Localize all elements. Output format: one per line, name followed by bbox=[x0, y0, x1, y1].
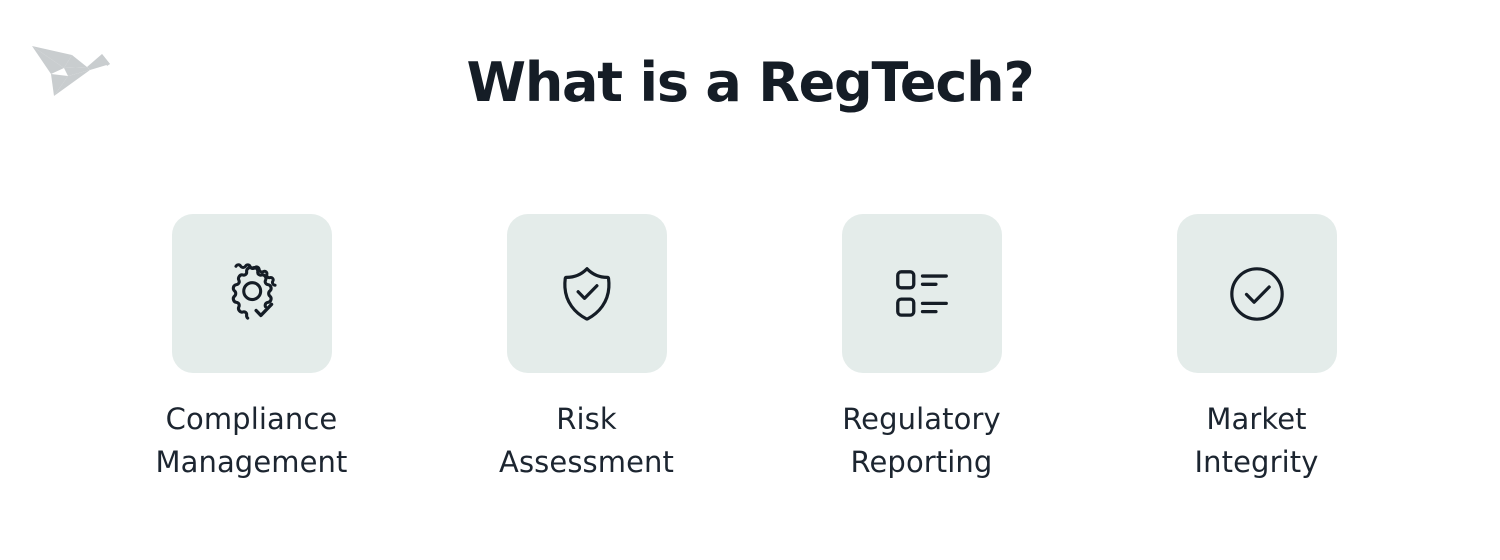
page-title: What is a RegTech? bbox=[466, 52, 1033, 114]
feature-item-regulatory-reporting[interactable]: Regulatory Reporting bbox=[754, 214, 1089, 484]
feature-label-regulatory-reporting: Regulatory Reporting bbox=[842, 398, 1001, 484]
regtech-infographic-page: { "page": { "background_color": "#ffffff… bbox=[0, 0, 1500, 560]
circle-check-icon bbox=[1224, 261, 1290, 327]
feature-list: Compliance Management Risk Assessment bbox=[84, 214, 1424, 484]
checklist-icon bbox=[889, 261, 955, 327]
feature-label-risk-assessment: Risk Assessment bbox=[499, 398, 674, 484]
shield-check-icon bbox=[554, 261, 620, 327]
feature-label-compliance-management: Compliance Management bbox=[155, 398, 347, 484]
gear-check-icon bbox=[219, 261, 285, 327]
feature-item-compliance-management[interactable]: Compliance Management bbox=[84, 214, 419, 484]
icon-card-compliance-management bbox=[172, 214, 332, 373]
page-title-container: What is a RegTech? bbox=[0, 52, 1500, 114]
icon-card-regulatory-reporting bbox=[842, 214, 1002, 373]
feature-item-risk-assessment[interactable]: Risk Assessment bbox=[419, 214, 754, 484]
feature-label-market-integrity: Market Integrity bbox=[1195, 398, 1319, 484]
icon-card-risk-assessment bbox=[507, 214, 667, 373]
icon-card-market-integrity bbox=[1177, 214, 1337, 373]
feature-item-market-integrity[interactable]: Market Integrity bbox=[1089, 214, 1424, 484]
